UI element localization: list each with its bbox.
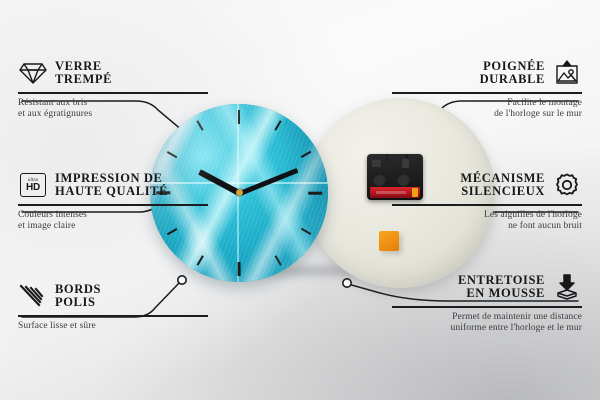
feature-entretoise-mousse[interactable]: ENTRETOISE EN MOUSSE Permet de maintenir… [392,272,582,335]
feature-header: POIGNÉE DURABLE [392,58,582,88]
feature-poignee-durable[interactable]: POIGNÉE DURABLE Facilite le montage de l… [392,58,582,121]
feature-desc-line1: Couleurs intenses [18,210,208,222]
feature-title-line2: SILENCIEUX [460,185,545,199]
feature-divider [18,315,208,317]
feature-divider [392,204,582,206]
feature-header: ENTRETOISE EN MOUSSE [392,272,582,302]
ultra-hd-icon-main-text: HD [26,183,40,193]
feature-impression-hd[interactable]: ultra HD IMPRESSION DE HAUTE QUALITÉ Cou… [18,170,208,233]
gear-icon [552,170,582,200]
feature-header: ultra HD IMPRESSION DE HAUTE QUALITÉ [18,170,208,200]
mechanism-slot-b [402,159,409,168]
feature-title-line2: TREMPÉ [55,73,112,87]
feature-desc-line1: Résistant aux bris [18,98,208,110]
infographic-canvas: VERRE TREMPÉ Résistant aux bris et aux é… [0,0,600,400]
feature-desc-line2: ne font aucun bruit [392,221,582,233]
feature-divider [18,92,208,94]
feature-header: BORDS POLIS [18,281,208,311]
feature-title-line1: POIGNÉE [480,60,545,74]
feature-title-line2: HAUTE QUALITÉ [55,185,168,199]
feature-desc-line2: et image claire [18,221,208,233]
foam-spacer-pad [379,231,399,251]
feature-desc-line1: Facilite le montage [392,98,582,110]
feature-header: MÉCANISME SILENCIEUX [392,170,582,200]
feature-title-line1: VERRE [55,60,112,74]
feature-divider [392,92,582,94]
feature-divider [18,204,208,206]
mechanism-dial-a [373,173,386,186]
feature-divider [392,306,582,308]
feature-mecanisme-silencieux[interactable]: MÉCANISME SILENCIEUX Les aiguilles de l'… [392,170,582,233]
feature-verre-trempe[interactable]: VERRE TREMPÉ Résistant aux bris et aux é… [18,58,208,121]
feature-title-line1: BORDS [55,283,101,297]
feature-desc-line2: uniforme entre l'horloge et le mur [392,323,582,335]
feature-title-line2: EN MOUSSE [458,287,545,301]
feature-desc-line2: de l'horloge sur le mur [392,109,582,121]
feature-desc-line1: Surface lisse et sûre [18,321,208,333]
mechanism-slot-a [372,160,381,167]
feature-desc-line1: Permet de maintenir une distance [392,312,582,324]
feature-title-line2: POLIS [55,296,101,310]
feature-desc-line2: et aux égratignures [18,109,208,121]
feature-header: VERRE TREMPÉ [18,58,208,88]
wall-frame-hanger-icon [552,58,582,88]
feature-desc-line1: Les aiguilles de l'horloge [392,210,582,222]
foam-spacer-icon [552,272,582,302]
feature-title-line1: MÉCANISME [460,172,545,186]
diamond-icon [18,58,48,88]
feature-title-line2: DURABLE [480,73,545,87]
ultra-hd-icon: ultra HD [18,170,48,200]
polished-edges-icon [18,281,48,311]
feature-bords-polis[interactable]: BORDS POLIS Surface lisse et sûre [18,281,208,332]
feature-title-line1: ENTRETOISE [458,274,545,288]
feature-title-line1: IMPRESSION DE [55,172,168,186]
